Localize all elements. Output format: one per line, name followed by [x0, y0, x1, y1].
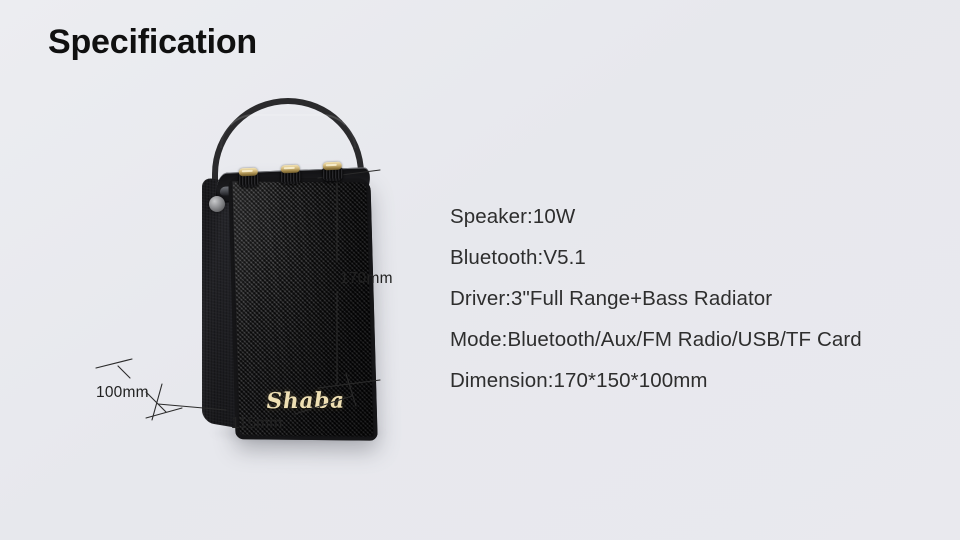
- spec-row-mode: Mode:Bluetooth/Aux/FM Radio/USB/TF Card: [450, 319, 920, 360]
- brand-logo: Shaba: [234, 387, 377, 414]
- knob-cap: [239, 168, 258, 177]
- speaker-front-face: Shaba: [228, 177, 377, 440]
- spec-row-bluetooth: Bluetooth:V5.1: [450, 237, 920, 278]
- spec-row-driver: Driver:3"Full Range+Bass Radiator: [450, 278, 920, 319]
- specification-list: Speaker:10W Bluetooth:V5.1 Driver:3"Full…: [450, 196, 920, 401]
- control-knob-2: [280, 165, 302, 185]
- spec-row-dimension: Dimension:170*150*100mm: [450, 360, 920, 401]
- specification-page: Specification Shaba: [0, 0, 960, 540]
- dimension-label-height: 170mm: [340, 270, 393, 288]
- control-knob-3: [322, 162, 344, 182]
- control-knob-1: [238, 168, 260, 188]
- handle-bracket-icon: [209, 196, 225, 212]
- page-title: Specification: [48, 22, 257, 63]
- dimension-label-width: 115mm: [231, 415, 283, 433]
- spec-row-speaker: Speaker:10W: [450, 196, 920, 237]
- dimension-label-depth: 100mm: [96, 384, 149, 402]
- knob-cap: [323, 162, 342, 171]
- knob-cap: [281, 165, 300, 174]
- product-illustration: Shaba: [60, 70, 460, 470]
